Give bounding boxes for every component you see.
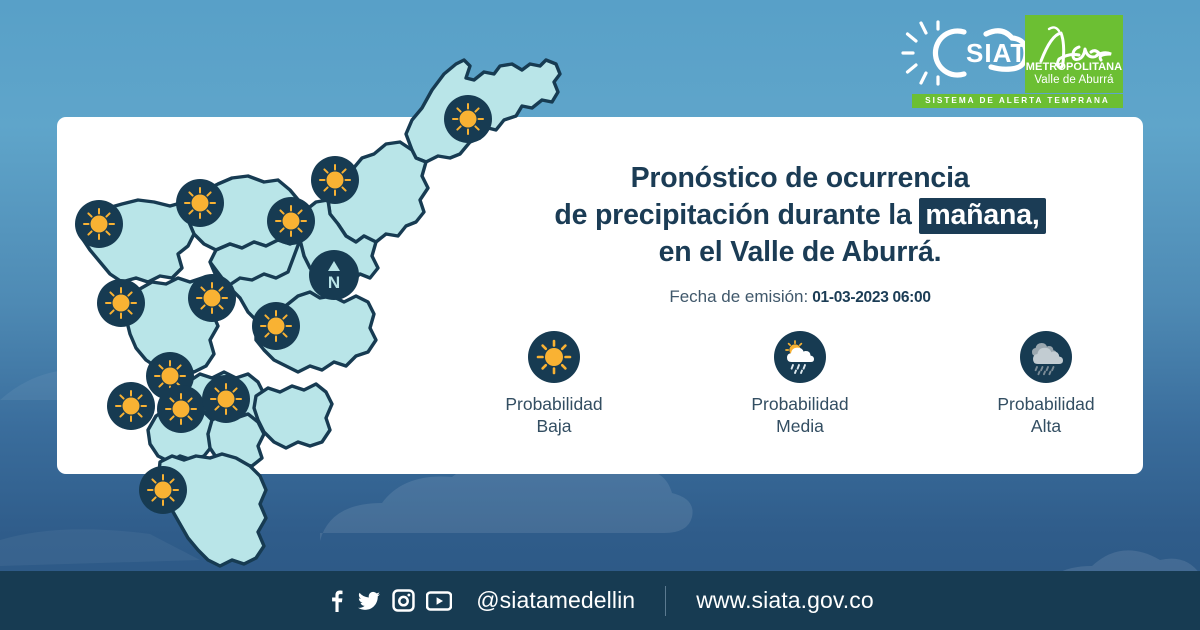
youtube-icon[interactable] xyxy=(426,591,452,611)
footer-divider xyxy=(665,586,666,616)
website-url[interactable]: www.siata.gov.co xyxy=(696,587,874,614)
page-title: Pronóstico de ocurrencia de precipitació… xyxy=(460,160,1140,271)
probability-legend: Probabilidad Baja xyxy=(460,331,1140,438)
siata-tagline: SISTEMA DE ALERTA TEMPRANA xyxy=(912,94,1123,108)
title-line-2: de precipitación durante la mañana, xyxy=(460,197,1140,234)
title-line-2-text: de precipitación durante la xyxy=(554,199,919,231)
title-line-1: Pronóstico de ocurrencia xyxy=(460,160,1140,197)
social-handle[interactable]: @siatamedellin xyxy=(476,587,635,614)
facebook-icon[interactable] xyxy=(326,589,346,613)
legend-label-media: Probabilidad Media xyxy=(751,394,848,438)
siata-wordmark: SIATA xyxy=(966,38,1032,68)
instagram-icon[interactable] xyxy=(392,589,415,612)
infographic-root: N SIATA METROPOLITANA xyxy=(0,0,1200,630)
issue-date: Fecha de emisión:01-03-2023 06:00 xyxy=(460,287,1140,307)
forecast-panel: Pronóstico de ocurrencia de precipitació… xyxy=(460,160,1140,460)
footer-bar: @siatamedellin www.siata.gov.co xyxy=(0,571,1200,630)
area-sub1-label: METROPOLITANA xyxy=(1025,61,1123,73)
area-sub2-label: Valle de Aburrá xyxy=(1025,74,1123,86)
sun-icon xyxy=(528,331,580,383)
area-metropolitana-logo: METROPOLITANA Valle de Aburrá xyxy=(1025,15,1123,93)
legend-item-alta: Probabilidad Alta xyxy=(971,331,1121,438)
legend-label-baja: Probabilidad Baja xyxy=(505,394,602,438)
title-highlight: mañana, xyxy=(919,198,1045,234)
legend-label-alta: Probabilidad Alta xyxy=(997,394,1094,438)
legend-item-media: Probabilidad Media xyxy=(725,331,875,438)
twitter-icon[interactable] xyxy=(357,589,381,613)
title-line-3: en el Valle de Aburrá. xyxy=(460,234,1140,271)
legend-item-baja: Probabilidad Baja xyxy=(479,331,629,438)
issue-date-value: 01-03-2023 06:00 xyxy=(812,289,930,306)
social-icons xyxy=(326,589,452,613)
siata-logo-icon: SIATA xyxy=(900,20,1032,86)
sun-cloud-rain-icon xyxy=(774,331,826,383)
cloud-heavy-rain-icon xyxy=(1020,331,1072,383)
issue-date-label: Fecha de emisión: xyxy=(669,287,808,306)
